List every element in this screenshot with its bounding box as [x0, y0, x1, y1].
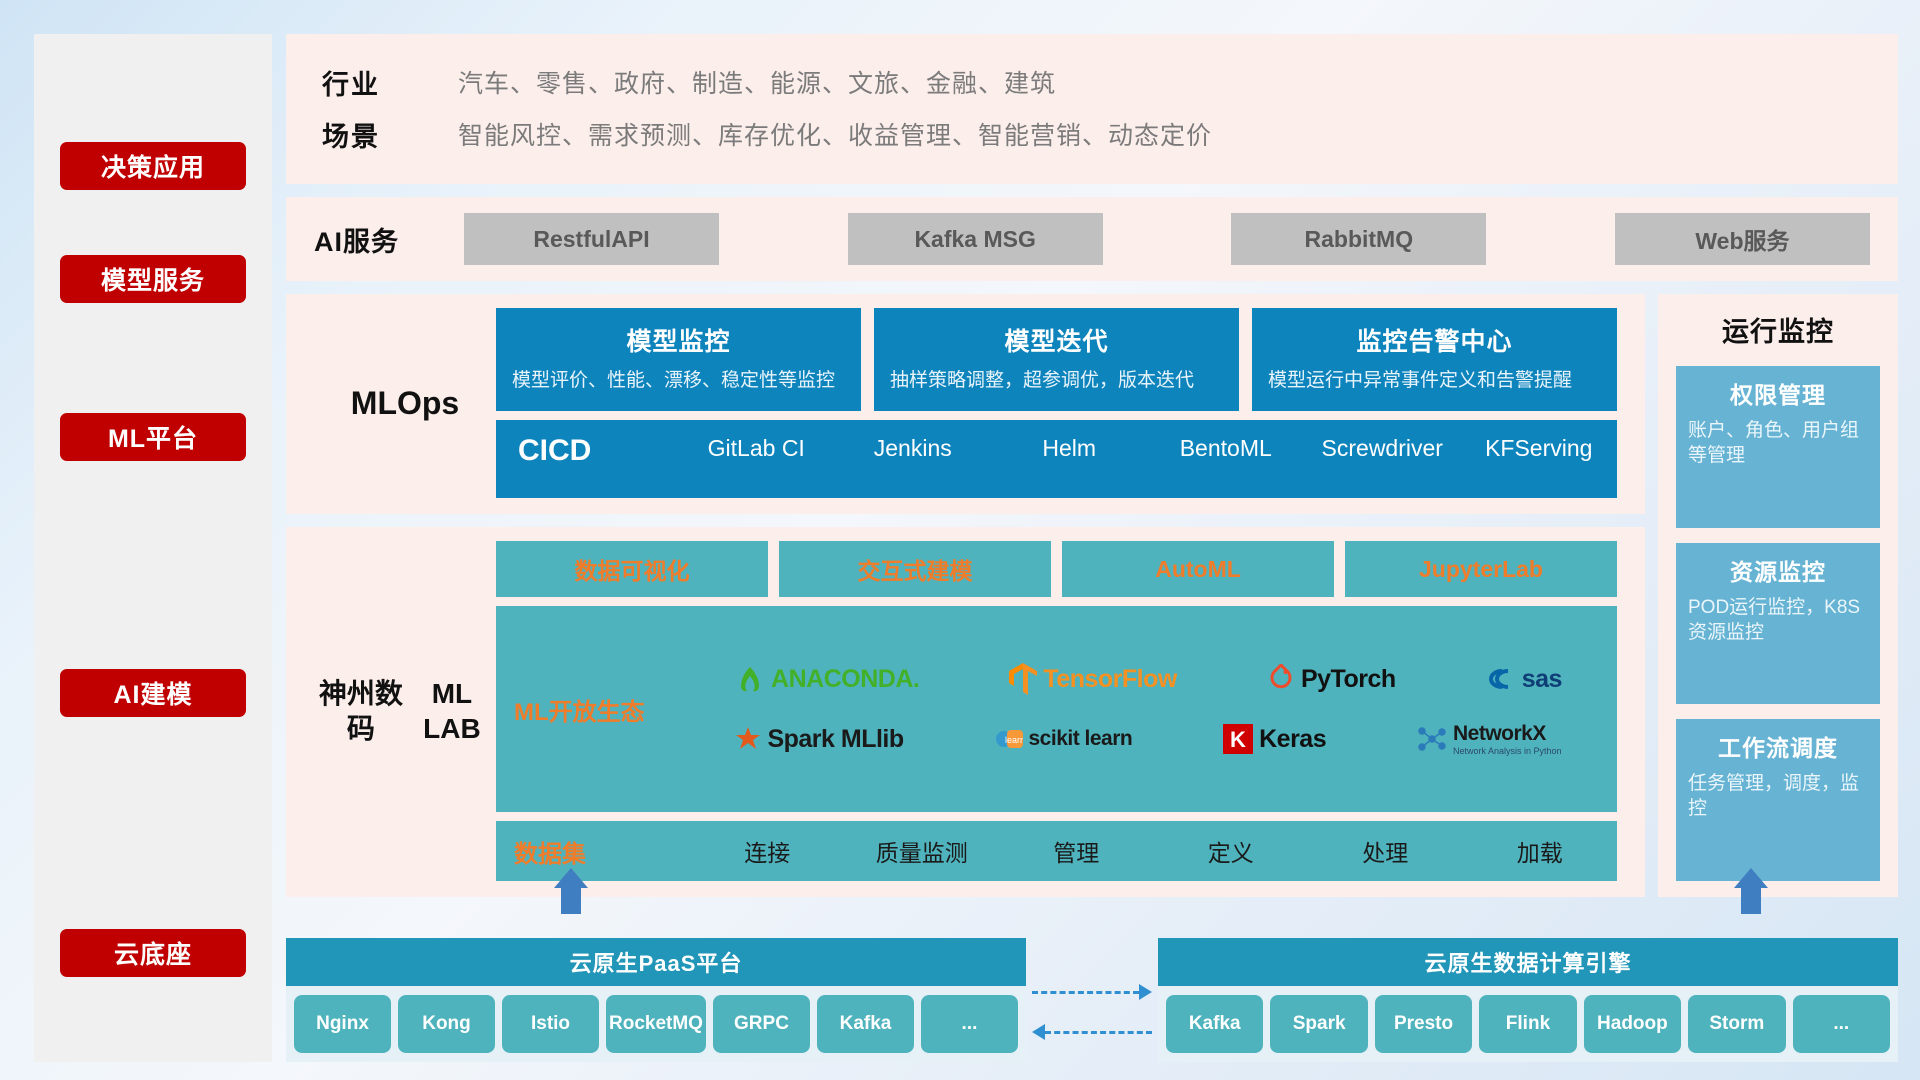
ai-service-buttons: RestfulAPI Kafka MSG RabbitMQ Web服务: [464, 213, 1870, 265]
cloud-data-engine-chips: Kafka Spark Presto Flink Hadoop Storm ..…: [1158, 986, 1898, 1062]
networkx-logo: NetworkX Network Analysis in Python: [1417, 722, 1562, 756]
scenario-row: 场景 智能风控、需求预测、库存优化、收益管理、智能营销、动态定价: [322, 108, 1868, 160]
dataset-item-load[interactable]: 加载: [1463, 834, 1618, 868]
ai-service-band: AI服务 RestfulAPI Kafka MSG RabbitMQ Web服务: [286, 197, 1898, 281]
cicd-bar: CICD GitLab CI Jenkins Helm BentoML Scre…: [496, 420, 1617, 498]
cloud-chip-hadoop[interactable]: Hadoop: [1584, 995, 1681, 1053]
card-title: 模型监控: [512, 322, 845, 358]
pytorch-logo: PyTorch: [1267, 664, 1396, 694]
scenario-value: 智能风控、需求预测、库存优化、收益管理、智能营销、动态定价: [458, 116, 1212, 152]
scenario-label: 场景: [322, 115, 418, 154]
cloud-chip-nginx[interactable]: Nginx: [294, 995, 391, 1053]
keras-logo: K Keras: [1223, 724, 1326, 754]
ml-lab-label-line2: ML LAB: [408, 676, 496, 746]
anaconda-logo: ANACONDA.: [735, 664, 919, 694]
sas-logo: sas: [1486, 665, 1562, 694]
cloud-base-section: 云原生PaaS平台 Nginx Kong Istio RocketMQ GRPC…: [286, 912, 1898, 1062]
mlops-card-alert-center[interactable]: 监控告警中心 模型运行中异常事件定义和告警提醒: [1252, 308, 1617, 411]
card-desc: 任务管理，调度，监控: [1688, 771, 1868, 821]
cloud-paas-chips: Nginx Kong Istio RocketMQ GRPC Kafka ...: [286, 986, 1026, 1062]
cicd-tool-screwdriver[interactable]: Screwdriver: [1304, 434, 1461, 463]
runtime-monitoring-title: 运行监控: [1676, 310, 1880, 349]
platform-section: MLOps 模型监控 模型评价、性能、漂移、稳定性等监控 模型迭代 抽样策略调整…: [286, 294, 1898, 897]
cloud-chip-more[interactable]: ...: [921, 995, 1018, 1053]
card-title: 监控告警中心: [1268, 322, 1601, 358]
tensorflow-logo: TensorFlow: [1009, 663, 1176, 695]
ml-lab-label-line1: 神州数码: [314, 676, 408, 746]
industry-label: 行业: [322, 63, 418, 102]
scikit-learn-icon: learn: [995, 727, 1023, 751]
monitor-card-workflow[interactable]: 工作流调度 任务管理，调度，监控: [1676, 719, 1880, 881]
card-desc: POD运行监控，K8S资源监控: [1688, 595, 1868, 645]
dataset-bar: 数据集 连接 质量监测 管理 定义 处理 加载: [496, 821, 1617, 881]
dataset-item-list: 连接 质量监测 管理 定义 处理 加载: [690, 834, 1617, 868]
keras-label: Keras: [1259, 725, 1326, 754]
cloud-chip-spark[interactable]: Spark: [1270, 995, 1367, 1053]
dataset-item-define[interactable]: 定义: [1154, 834, 1309, 868]
cicd-tool-list: GitLab CI Jenkins Helm BentoML Screwdriv…: [678, 434, 1617, 463]
arrow-to-right: [1032, 984, 1152, 1000]
card-title: 资源监控: [1688, 553, 1868, 587]
up-arrow-right-icon: [1734, 868, 1768, 914]
mlops-content: 模型监控 模型评价、性能、漂移、稳定性等监控 模型迭代 抽样策略调整，超参调优，…: [496, 308, 1617, 498]
ai-modeling-band: 神州数码 ML LAB 数据可视化 交互式建模 AutoML JupyterLa…: [286, 527, 1645, 897]
dataset-item-process[interactable]: 处理: [1308, 834, 1463, 868]
card-title: 模型迭代: [890, 322, 1223, 358]
ml-ecosystem-label: ML开放生态: [514, 692, 690, 727]
anaconda-label: ANACONDA.: [771, 665, 919, 694]
networkx-label: NetworkX: [1453, 722, 1562, 746]
cloud-chip-kafka[interactable]: Kafka: [817, 995, 914, 1053]
spark-icon: [735, 726, 761, 752]
monitor-card-permission[interactable]: 权限管理 账户、角色、用户组等管理: [1676, 366, 1880, 528]
card-desc: 模型评价、性能、漂移、稳定性等监控: [512, 368, 845, 393]
tensorflow-icon: [1009, 663, 1037, 695]
ml-ecosystem-logo-row-2: Spark MLlib learn scikit learn: [690, 711, 1607, 767]
cloud-data-engine-group: 云原生数据计算引擎 Kafka Spark Presto Flink Hadoo…: [1158, 938, 1898, 1062]
cloud-chip-presto[interactable]: Presto: [1375, 995, 1472, 1053]
ai-service-rabbitmq[interactable]: RabbitMQ: [1231, 213, 1486, 265]
up-arrow-left-icon: [554, 868, 588, 914]
cloud-chip-kafka-2[interactable]: Kafka: [1166, 995, 1263, 1053]
cicd-tool-gitlab-ci[interactable]: GitLab CI: [678, 434, 835, 463]
card-desc: 抽样策略调整，超参调优，版本迭代: [890, 368, 1223, 393]
ai-service-restfulapi[interactable]: RestfulAPI: [464, 213, 719, 265]
cloud-chip-rocketmq[interactable]: RocketMQ: [606, 995, 706, 1053]
ml-lab-label: 神州数码 ML LAB: [314, 541, 496, 881]
rail-item-ai-modeling[interactable]: AI建模: [60, 669, 246, 717]
bidirectional-arrows: [1026, 984, 1158, 1062]
pytorch-icon: [1267, 664, 1295, 694]
ai-service-kafka-msg[interactable]: Kafka MSG: [848, 213, 1103, 265]
cloud-paas-title: 云原生PaaS平台: [286, 938, 1026, 986]
rail-item-ml-platform[interactable]: ML平台: [60, 413, 246, 461]
tab-interactive-modeling[interactable]: 交互式建模: [779, 541, 1051, 597]
architecture-diagram: 决策应用 模型服务 ML平台 AI建模 云底座 行业 汽车、零售、政府、制造、能…: [0, 0, 1920, 1080]
cloud-chip-flink[interactable]: Flink: [1479, 995, 1576, 1053]
layer-rail: 决策应用 模型服务 ML平台 AI建模 云底座: [34, 34, 272, 1062]
cicd-tool-helm[interactable]: Helm: [991, 434, 1148, 463]
cloud-chip-istio[interactable]: Istio: [502, 995, 599, 1053]
keras-icon: K: [1223, 724, 1253, 754]
rail-item-decision-app[interactable]: 决策应用: [60, 142, 246, 190]
dataset-item-manage[interactable]: 管理: [999, 834, 1154, 868]
ai-service-web[interactable]: Web服务: [1615, 213, 1870, 265]
ml-ecosystem-logo-row-1: ANACONDA. TensorFlow: [690, 651, 1607, 707]
sas-label: sas: [1522, 665, 1562, 694]
card-desc: 模型运行中异常事件定义和告警提醒: [1268, 368, 1601, 393]
tab-automl[interactable]: AutoML: [1062, 541, 1334, 597]
ml-lab-tabs: 数据可视化 交互式建模 AutoML JupyterLab: [496, 541, 1617, 597]
ml-ecosystem-panel: ML开放生态 ANACONDA.: [496, 606, 1617, 812]
cicd-tool-bentoml[interactable]: BentoML: [1148, 434, 1305, 463]
tensorflow-label: TensorFlow: [1043, 665, 1176, 694]
cloud-chip-storm[interactable]: Storm: [1688, 995, 1785, 1053]
mlops-label: MLOps: [314, 308, 496, 498]
platform-main: MLOps 模型监控 模型评价、性能、漂移、稳定性等监控 模型迭代 抽样策略调整…: [286, 294, 1645, 897]
spark-mllib-logo: Spark MLlib: [735, 725, 903, 754]
ml-lab-content: 数据可视化 交互式建模 AutoML JupyterLab ML开放生态: [496, 541, 1617, 881]
ai-service-label: AI服务: [314, 220, 464, 259]
runtime-monitoring-column: 运行监控 权限管理 账户、角色、用户组等管理 资源监控 POD运行监控，K8S资…: [1658, 294, 1898, 897]
main-column: 行业 汽车、零售、政府、制造、能源、文旅、金融、建筑 场景 智能风控、需求预测、…: [286, 34, 1898, 1062]
svg-text:K: K: [1230, 727, 1246, 752]
cloud-chip-more-2[interactable]: ...: [1793, 995, 1890, 1053]
cicd-tool-kfserving[interactable]: KFServing: [1461, 434, 1618, 463]
svg-text:learn: learn: [1004, 735, 1022, 745]
scikit-learn-logo: learn scikit learn: [995, 727, 1133, 751]
card-title: 权限管理: [1688, 376, 1868, 410]
networkx-sublabel: Network Analysis in Python: [1453, 746, 1562, 756]
card-title: 工作流调度: [1688, 729, 1868, 763]
industry-value: 汽车、零售、政府、制造、能源、文旅、金融、建筑: [458, 64, 1056, 100]
decision-application-band: 行业 汽车、零售、政府、制造、能源、文旅、金融、建筑 场景 智能风控、需求预测、…: [286, 34, 1898, 184]
monitor-card-resource[interactable]: 资源监控 POD运行监控，K8S资源监控: [1676, 543, 1880, 705]
scikit-learn-label: scikit learn: [1029, 727, 1133, 751]
dataset-item-quality-monitoring[interactable]: 质量监测: [845, 834, 1000, 868]
dataset-label: 数据集: [514, 834, 690, 869]
rail-item-cloud-base[interactable]: 云底座: [60, 929, 246, 977]
ml-ecosystem-logos: ANACONDA. TensorFlow: [690, 651, 1607, 767]
mlops-card-model-monitoring[interactable]: 模型监控 模型评价、性能、漂移、稳定性等监控: [496, 308, 861, 411]
mlops-card-model-iteration[interactable]: 模型迭代 抽样策略调整，超参调优，版本迭代: [874, 308, 1239, 411]
sas-icon: [1486, 666, 1516, 692]
cloud-paas-group: 云原生PaaS平台 Nginx Kong Istio RocketMQ GRPC…: [286, 938, 1026, 1062]
arrow-to-left: [1032, 1024, 1152, 1040]
networkx-icon: [1417, 726, 1447, 752]
anaconda-icon: [735, 664, 765, 694]
spark-mllib-label: Spark MLlib: [767, 725, 903, 754]
pytorch-label: PyTorch: [1301, 665, 1396, 694]
cloud-data-engine-title: 云原生数据计算引擎: [1158, 938, 1898, 986]
cloud-chip-kong[interactable]: Kong: [398, 995, 495, 1053]
dataset-item-connect[interactable]: 连接: [690, 834, 845, 868]
mlops-band: MLOps 模型监控 模型评价、性能、漂移、稳定性等监控 模型迭代 抽样策略调整…: [286, 294, 1645, 514]
cloud-chip-grpc[interactable]: GRPC: [713, 995, 810, 1053]
industry-row: 行业 汽车、零售、政府、制造、能源、文旅、金融、建筑: [322, 56, 1868, 108]
cicd-label: CICD: [518, 434, 678, 468]
rail-item-model-service[interactable]: 模型服务: [60, 255, 246, 303]
card-desc: 账户、角色、用户组等管理: [1688, 418, 1868, 468]
tab-jupyterlab[interactable]: JupyterLab: [1345, 541, 1617, 597]
cicd-tool-jenkins[interactable]: Jenkins: [835, 434, 992, 463]
tab-data-visualization[interactable]: 数据可视化: [496, 541, 768, 597]
mlops-card-list: 模型监控 模型评价、性能、漂移、稳定性等监控 模型迭代 抽样策略调整，超参调优，…: [496, 308, 1617, 411]
